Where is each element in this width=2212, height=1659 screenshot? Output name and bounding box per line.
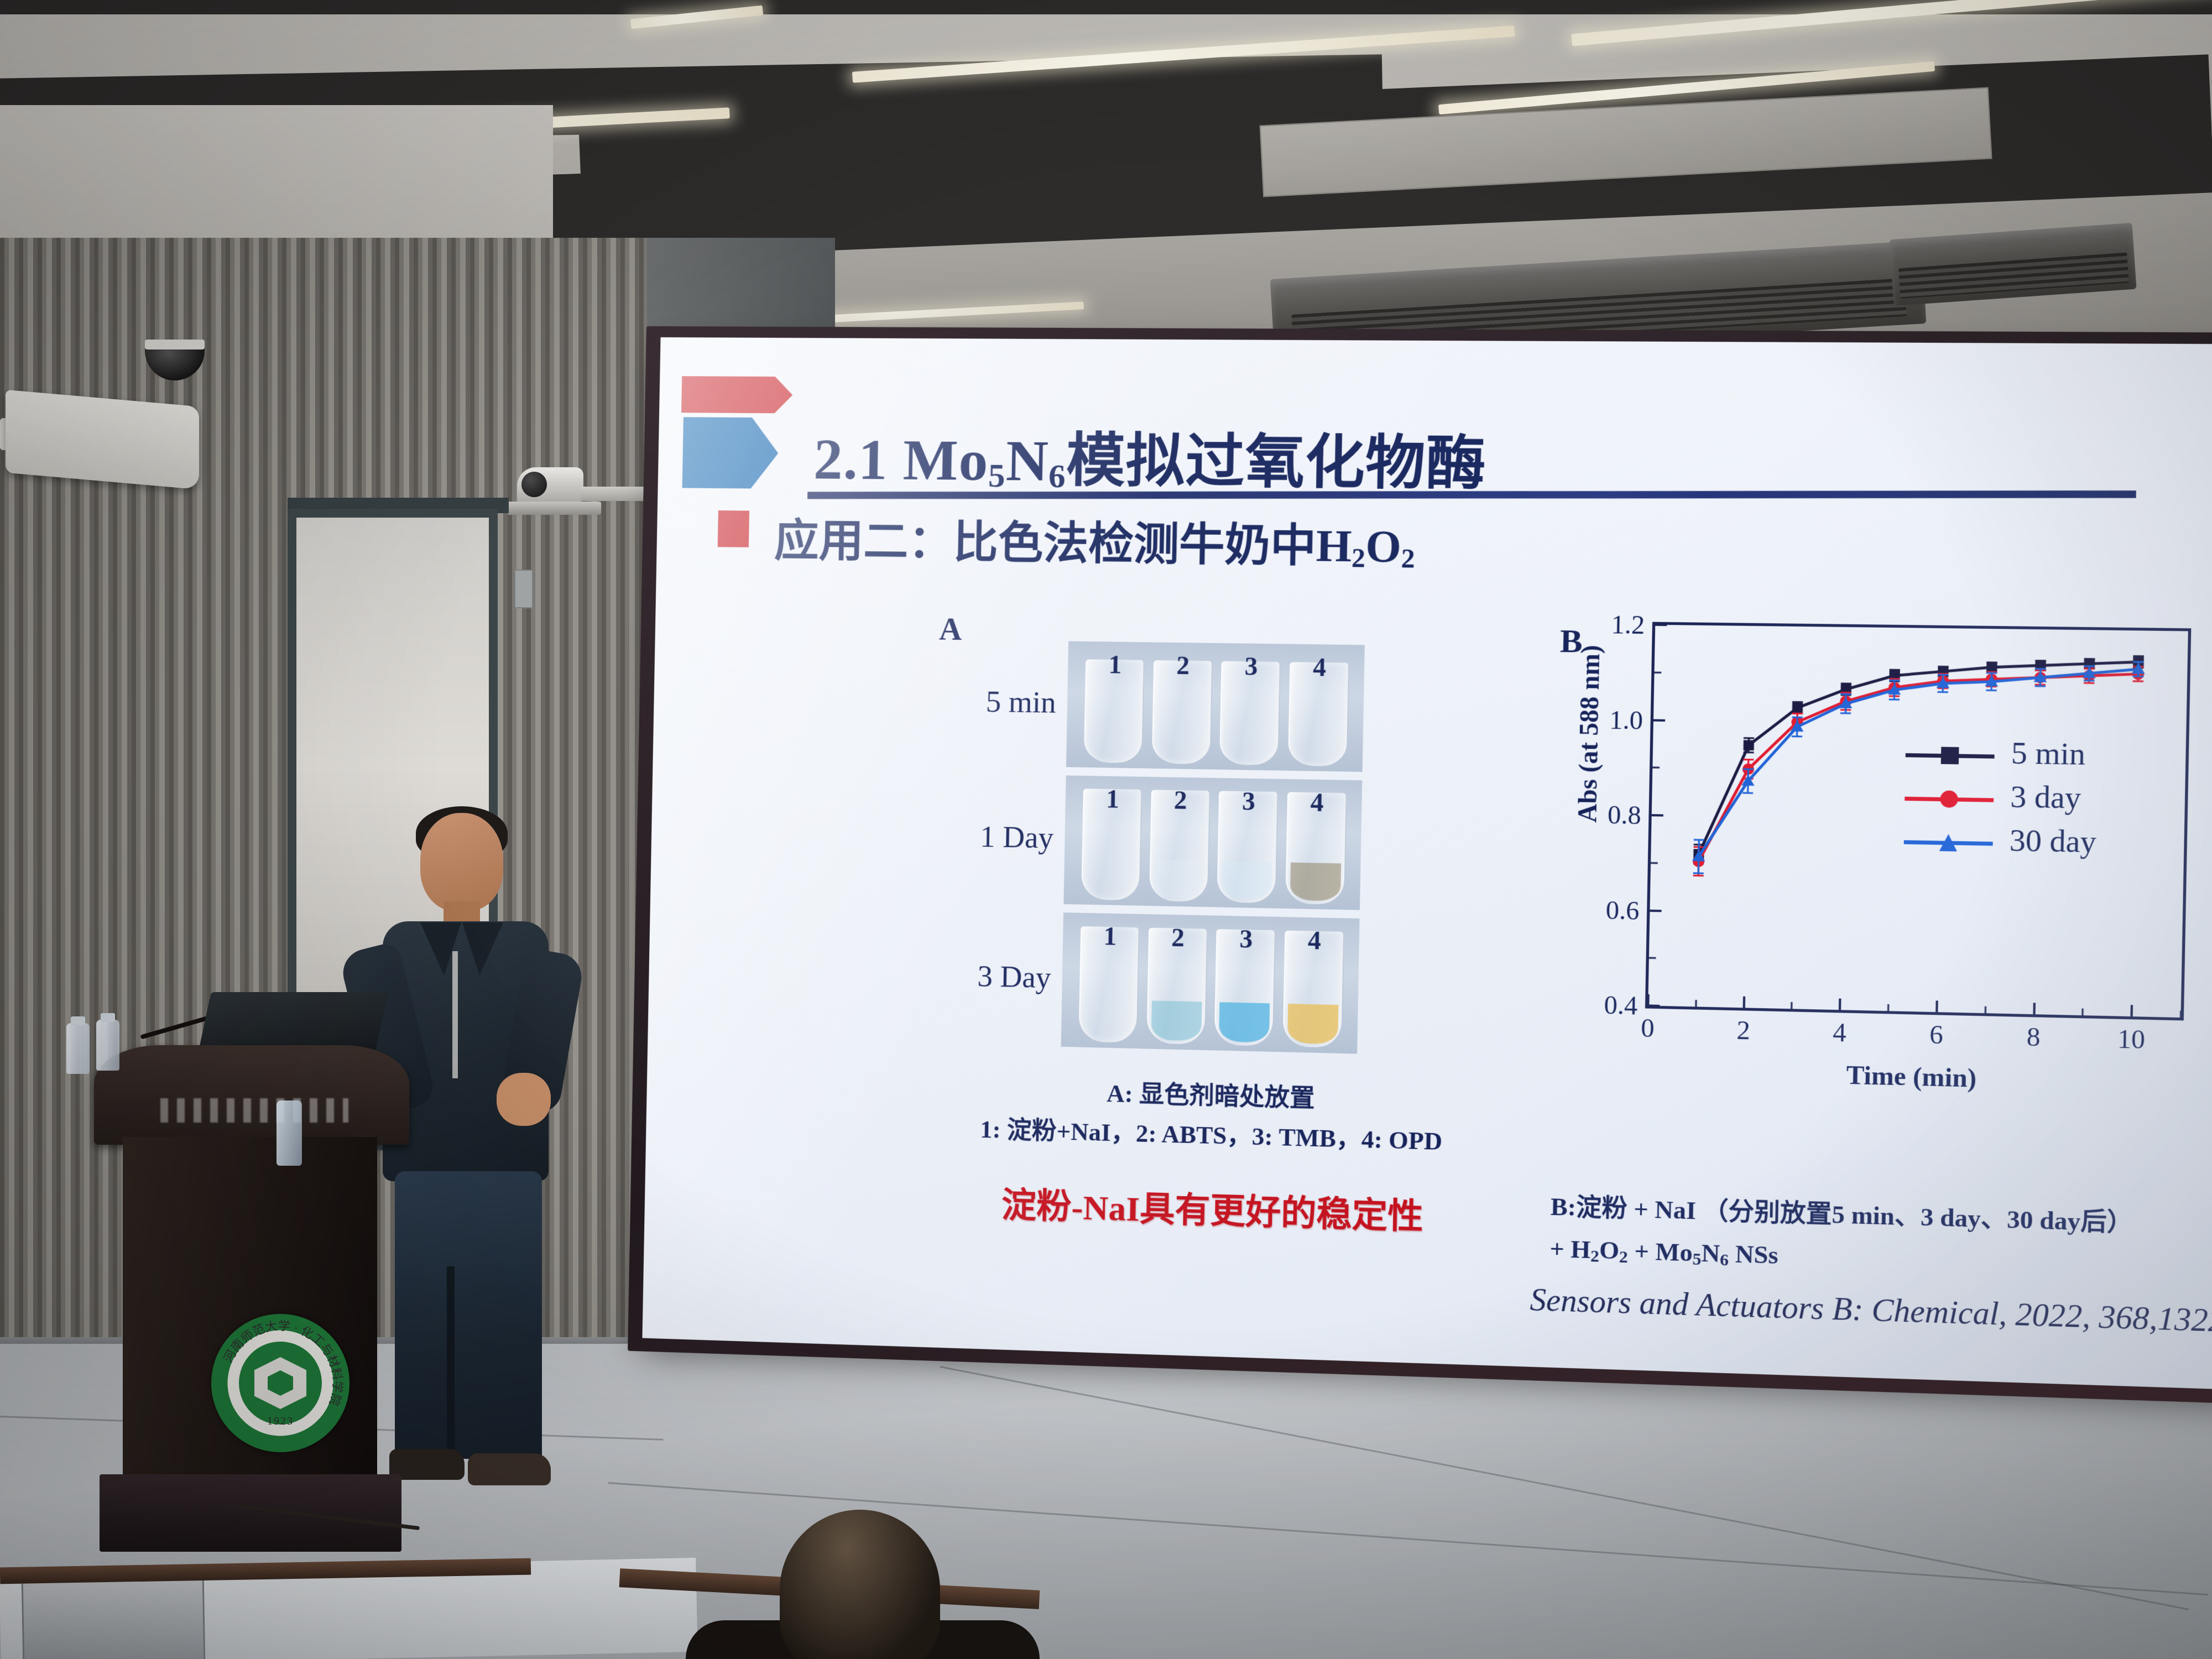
water-bottle-2[interactable]: [96, 1020, 119, 1071]
cuvette-label-3-1: 1: [1081, 921, 1140, 952]
presentation-slide[interactable]: 2.1 Mo5N6模拟过氧化物酶 应用二：比色法检测牛奶中H2O2 A 5 mi…: [642, 337, 2212, 1391]
lectern: 河南师范大学 · 化工与材料学院 1923: [94, 1029, 409, 1554]
cuvette-fill-1-1: [1088, 724, 1139, 760]
cuvette-fill-1-2: [1156, 725, 1207, 761]
slide-subtitle-sub-2a: 2: [1351, 543, 1365, 573]
x-tick-minor: [2180, 1011, 2182, 1018]
chart-legend: 5 min3 day30 day: [1903, 734, 2162, 869]
cuvette-fill-2-1: [1086, 858, 1136, 897]
y-tick-mark-0.6: [1650, 909, 1661, 912]
lectern-nameplate: [160, 1098, 348, 1123]
cuvette-label-1-3: 3: [1221, 651, 1281, 681]
capb2-sub4: 6: [1720, 1250, 1729, 1269]
x-tick-label-8: 8: [2026, 1022, 2041, 1053]
air-conditioner-grille-2: [1898, 252, 2128, 299]
lecture-hall-photo: 2.1 Mo5N6模拟过氧化物酶 应用二：比色法检测牛奶中H2O2 A 5 mi…: [0, 0, 2212, 1659]
cuvette-label-1-2: 2: [1153, 650, 1213, 680]
panel-b-caption-1: B:淀粉 + NaI （分别放置5 min、3 day、30 day后）: [1550, 1186, 2133, 1239]
x-tick-mark-8: [2033, 1003, 2036, 1014]
water-bottle-table[interactable]: [276, 1100, 302, 1166]
y-axis-label: Abs (at 588 nm): [1571, 614, 1606, 853]
capb2-sub2: 2: [1619, 1248, 1628, 1266]
x-tick-minor: [1887, 1004, 1889, 1011]
arrow-red-icon: [681, 376, 793, 413]
presenter-legs: [395, 1171, 542, 1459]
slide-title-tail: 模拟过氧化物酶: [1066, 429, 1487, 497]
slide-title-main: 2.1 Mo: [813, 427, 989, 493]
y-tick-minor: [1649, 957, 1656, 959]
camera-lens-icon: [521, 472, 547, 497]
cuvette-label-1-1: 1: [1086, 649, 1145, 680]
cuvette-fill-2-4: [1290, 862, 1341, 901]
ptz-camera-bracket: [507, 502, 601, 515]
bottle-cap-1: [71, 1016, 85, 1025]
water-bottle-pair[interactable]: [66, 1019, 133, 1072]
panel-a-row-label-2: 1 Day: [912, 818, 1053, 855]
slide-title-mid: N: [1005, 429, 1050, 493]
water-bottle-1[interactable]: [66, 1023, 90, 1074]
y-tick-label-1.2: 1.2: [1611, 609, 1645, 640]
cuvette-fill-1-4: [1292, 727, 1343, 763]
cuvette-fill-2-3: [1222, 861, 1272, 900]
capb2-mid3: N: [1701, 1239, 1720, 1267]
emblem-inner-ring: [239, 1342, 322, 1425]
slide-subtitle-main: 应用二：比色法检测牛奶中H: [774, 517, 1352, 571]
cuvette-label-3-2: 2: [1148, 922, 1208, 953]
slide-subtitle-mid: O: [1365, 522, 1401, 572]
legend-item-3-day: 3 day: [1904, 777, 2161, 825]
y-tick-minor: [1655, 671, 1662, 673]
panel-a-photo-row-2: 1234: [1063, 775, 1362, 910]
slide-subtitle: 应用二：比色法检测牛奶中H2O2: [774, 504, 1416, 576]
cuvette-label-3-3: 3: [1216, 924, 1276, 954]
y-tick-label-0.8: 0.8: [1608, 800, 1642, 830]
legend-marker-square: [1941, 747, 1959, 765]
slide-subtitle-sub-2b: 2: [1401, 544, 1415, 573]
lectern-body: 河南师范大学 · 化工与材料学院 1923: [123, 1137, 377, 1480]
panel-b-caption-2: + H2O2 + Mo5N6 NSs: [1550, 1234, 1778, 1272]
slide-title-sub-5: 5: [988, 457, 1006, 494]
presenter-hand-right: [497, 1073, 551, 1126]
plot-area: 0.40.60.81.01.2 0246810 5 min3 day30 day: [1645, 622, 2191, 1021]
presenter-shoe-right: [468, 1453, 551, 1485]
bullet-square-icon: [718, 510, 749, 547]
lectern-top: [94, 1045, 409, 1145]
x-tick-label-2: 2: [1736, 1015, 1750, 1046]
arrow-blue-icon: [682, 417, 779, 489]
capb2-sub3: 5: [1692, 1250, 1702, 1269]
projection-screen[interactable]: 2.1 Mo5N6模拟过氧化物酶 应用二：比色法检测牛奶中H2O2 A 5 mi…: [642, 337, 2212, 1391]
y-tick-minor: [1652, 767, 1660, 769]
lectern-base: [100, 1474, 401, 1552]
chair-back-1: [22, 1578, 206, 1659]
y-tick-mark-1: [1653, 719, 1665, 721]
y-tick-mark-1.2: [1655, 624, 1667, 626]
slide-title: 2.1 Mo5N6模拟过氧化物酶: [813, 411, 1487, 501]
x-tick-mark-0: [1647, 994, 1650, 1006]
legend-label: 5 min: [2011, 735, 2085, 772]
x-tick-mark-10: [2131, 1005, 2133, 1016]
y-tick-mark-0.8: [1652, 814, 1663, 816]
y-tick-label-0.6: 0.6: [1605, 895, 1640, 926]
x-tick-label-6: 6: [1929, 1020, 1944, 1050]
slide-title-sub-6: 6: [1048, 457, 1066, 494]
emblem-hexagon-icon: [254, 1357, 306, 1409]
cuvette-fill-3-3: [1219, 1002, 1270, 1042]
y-tick-mark-0.4: [1648, 1004, 1660, 1007]
panel-a: A 5 min12341 Day12343 Day1234 A: 显色剂暗处放置…: [907, 606, 1527, 1180]
slide-conclusion: 淀粉-NaI具有更好的稳定性: [906, 1174, 1522, 1242]
cuvette-fill-2-2: [1154, 860, 1204, 899]
x-tick-mark-4: [1839, 999, 1841, 1010]
y-tick-label-0.4: 0.4: [1604, 990, 1638, 1021]
panel-a-photo-row-1: 1234: [1066, 641, 1365, 772]
wall-speaker: [6, 390, 199, 490]
cuvette-fill-3-4: [1287, 1004, 1338, 1045]
capb2-pre: + H: [1550, 1235, 1591, 1264]
y-tick-minor: [1651, 862, 1658, 864]
cuvette-fill-3-2: [1151, 1001, 1202, 1041]
title-underline: [807, 491, 2136, 499]
legend-item-5-min: 5 min: [1905, 734, 2162, 781]
door-sign: [514, 570, 533, 608]
bottle-cap-2: [101, 1013, 115, 1022]
panel-a-row-label-3: 3 Day: [910, 957, 1051, 995]
x-axis-label: Time (min): [1644, 1055, 2183, 1098]
x-tick-minor: [1984, 1006, 1986, 1014]
presenter-shirt-placket: [452, 951, 458, 1078]
panel-a-photo-row-3: 1234: [1061, 912, 1360, 1054]
lectern-laptop[interactable]: [198, 992, 388, 1053]
legend-item-30-day: 30 day: [1903, 821, 2161, 869]
emblem-year: 1923: [211, 1415, 349, 1428]
x-tick-minor: [1791, 1002, 1793, 1009]
cuvette-label-2-2: 2: [1151, 785, 1211, 816]
legend-label: 30 day: [2009, 822, 2096, 859]
x-tick-label-0: 0: [1641, 1013, 1655, 1044]
presenter-head: [420, 813, 503, 911]
capb2-mid2: + Mo: [1627, 1237, 1693, 1267]
x-tick-label-10: 10: [2117, 1024, 2146, 1055]
cuvette-fill-3-1: [1083, 999, 1134, 1040]
slide-title-row: 2.1 Mo5N6模拟过氧化物酶: [680, 376, 2212, 494]
cuvette-label-3-4: 4: [1285, 925, 1345, 956]
presenter-leg-split: [447, 1266, 455, 1460]
legend-label: 3 day: [2010, 779, 2081, 816]
panel-b: B Abs (at 588 nm) 0.40.60.81.01.2 024681…: [1540, 599, 2212, 1190]
panel-a-letter: A: [939, 612, 962, 648]
capb2-mid: O: [1599, 1236, 1620, 1264]
capb2-sub1: 2: [1590, 1246, 1599, 1265]
panel-a-rows: 5 min12341 Day12343 Day1234: [917, 606, 1527, 613]
university-emblem: 河南师范大学 · 化工与材料学院 1923: [211, 1314, 349, 1452]
cuvette-label-1-4: 4: [1290, 651, 1350, 682]
cuvette-label-2-1: 1: [1083, 784, 1142, 814]
x-tick-label-4: 4: [1833, 1018, 1847, 1048]
capb2-tail: NSs: [1729, 1240, 1778, 1269]
ptz-camera-head: [517, 467, 583, 504]
x-tick-minor: [2082, 1009, 2084, 1016]
x-tick-mark-6: [1936, 1000, 1938, 1012]
x-tick-minor: [1695, 1000, 1697, 1006]
legend-marker-circle: [1940, 790, 1958, 808]
cuvette-fill-1-3: [1224, 726, 1275, 762]
panel-a-row-label-1: 5 min: [915, 683, 1056, 719]
audience-member-head: [780, 1510, 940, 1659]
y-tick-label-1: 1.0: [1609, 705, 1644, 735]
cuvette-label-2-4: 4: [1287, 787, 1347, 818]
cuvette-label-2-3: 3: [1219, 786, 1279, 817]
ptz-camera: [517, 467, 583, 518]
x-tick-mark-2: [1743, 997, 1745, 1008]
slide-citation: Sensors and Actuators B: Chemical, 2022,…: [1421, 1279, 2212, 1340]
